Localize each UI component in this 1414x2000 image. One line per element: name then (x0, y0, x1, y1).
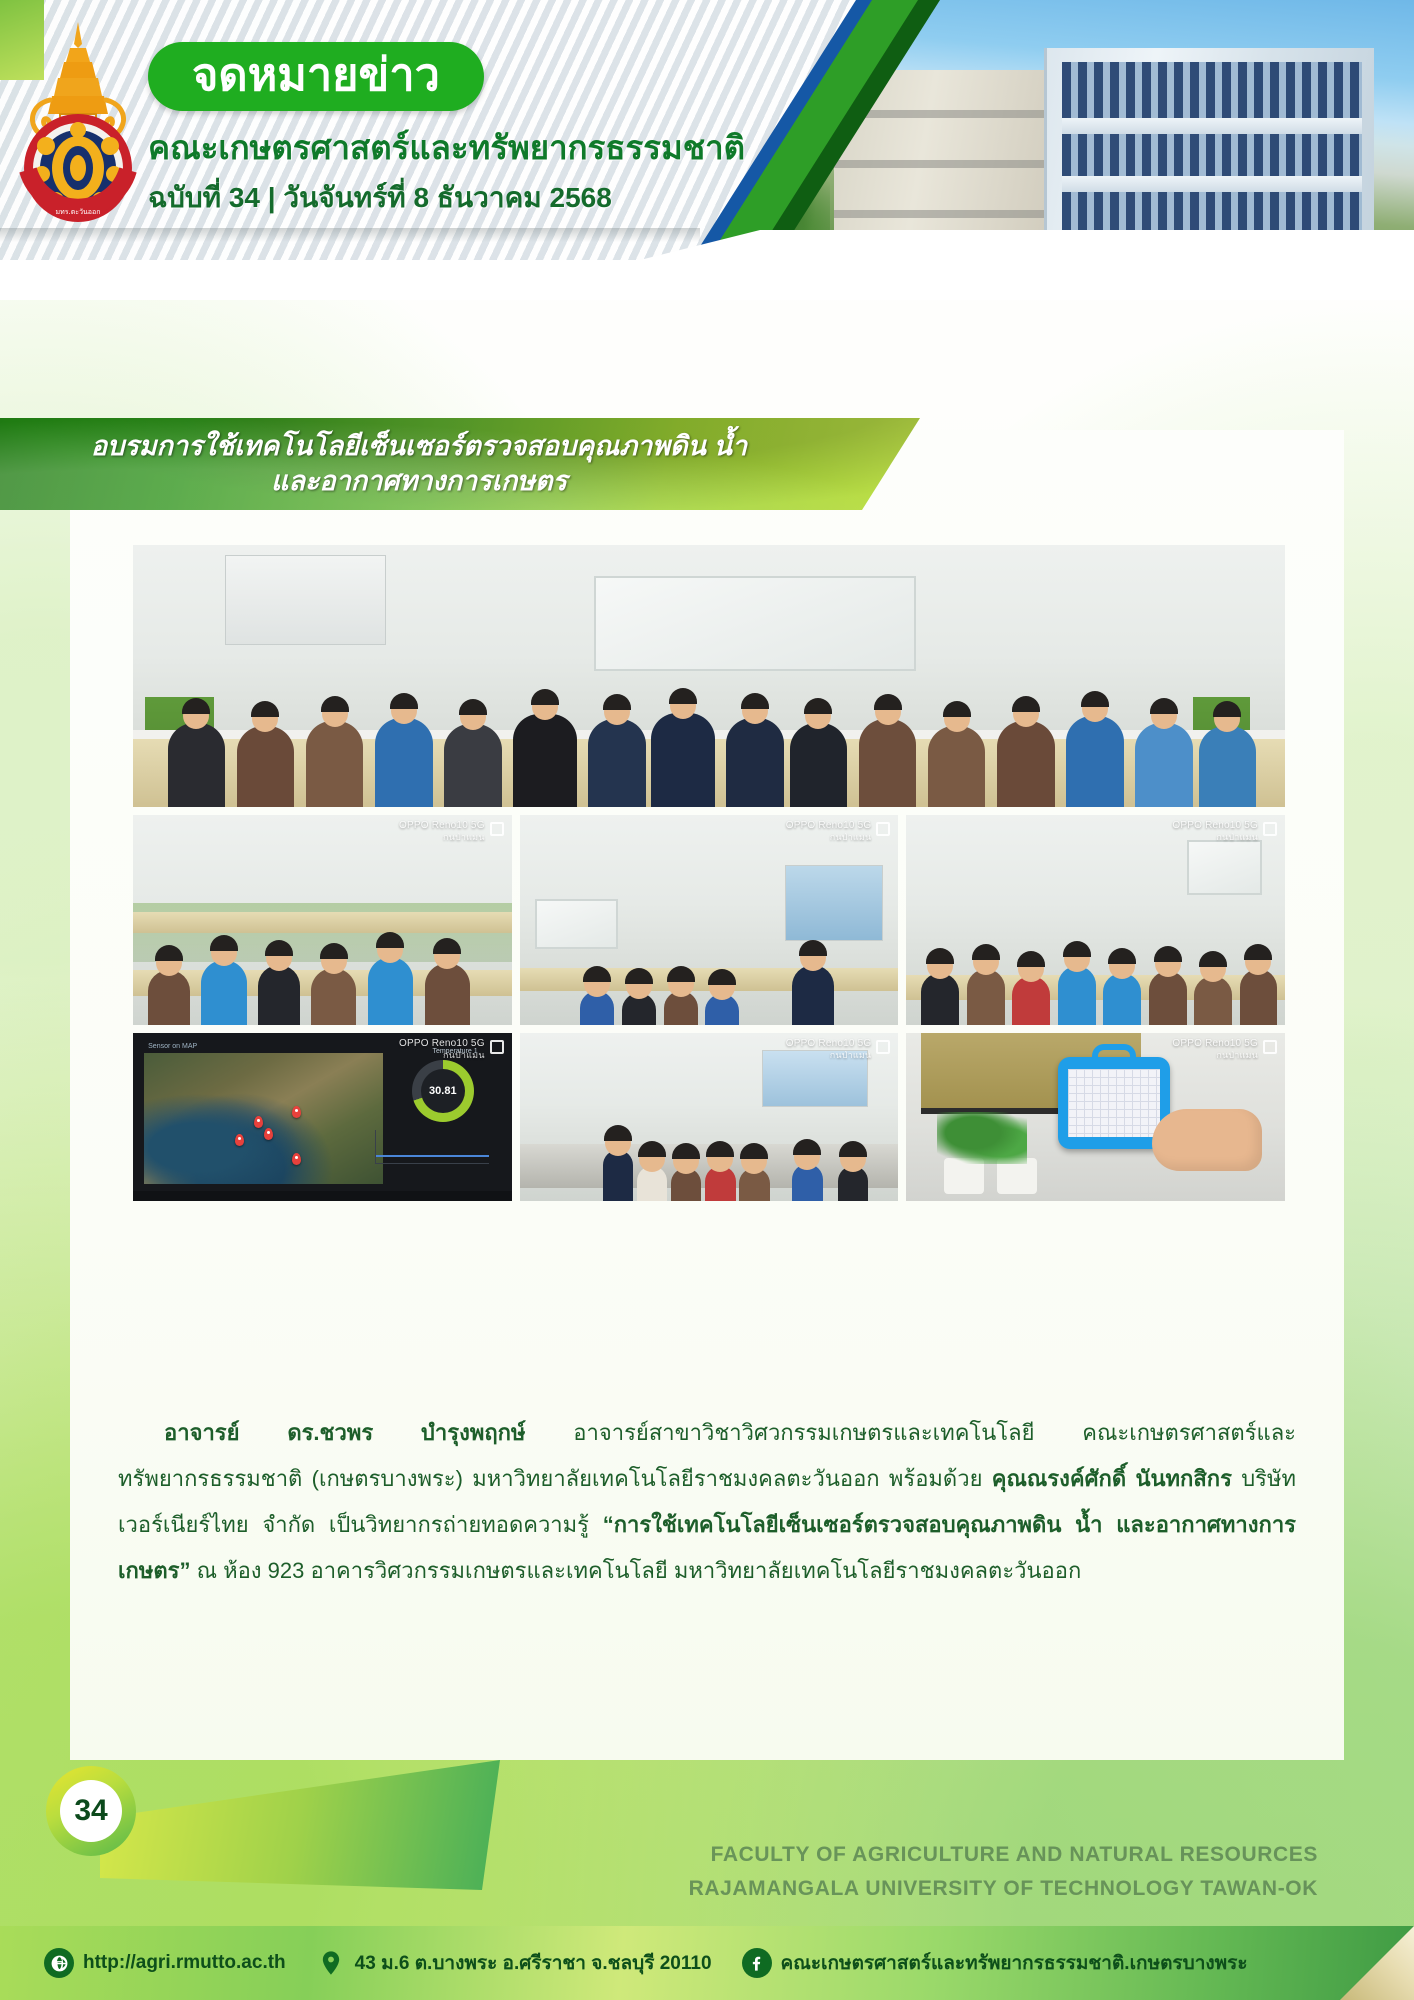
building-band-lower (1062, 176, 1362, 192)
newsletter-header: อาคาร 9 คณะเกษตรศาสตร์และทรัพยากรธรรมชาต… (0, 0, 1414, 300)
footer-english-name: FACULTY OF AGRICULTURE AND NATURAL RESOU… (689, 1838, 1318, 1905)
page-number: 34 (60, 1780, 122, 1842)
header-bottom-shadow (0, 228, 700, 242)
header-faculty-name: คณะเกษตรศาสตร์และทรัพยากรธรรมชาติ (148, 127, 745, 168)
camera-logo-icon (876, 822, 890, 836)
photo-watermark: OPPO Reno10 5G กนป่าแมน (1172, 1038, 1277, 1060)
windows-taskbar (133, 1191, 512, 1201)
photo-watermark: OPPO Reno10 5G กนป่าแมน (786, 1038, 891, 1060)
projector-screen (225, 555, 386, 644)
article-title-line2: และอากาศทางการเกษตร (271, 464, 567, 499)
footer-en-line2: RAJAMANGALA UNIVERSITY OF TECHNOLOGY TAW… (689, 1872, 1318, 1906)
watermark-brand: OPPO Reno10 5G (399, 820, 485, 832)
camera-logo-icon (490, 1040, 504, 1054)
satellite-map (144, 1053, 383, 1184)
contact-facebook-text: คณะเกษตรศาสตร์และทรัพยากรธรรมชาติ.เกษตรบ… (781, 1948, 1248, 1978)
newsletter-badge: จดหมายข่าว (148, 42, 484, 111)
photo-watermark: OPPO Reno10 5G กนป่าแมน (1172, 820, 1277, 842)
temperature-gauge: 30.81 (412, 1060, 474, 1122)
users-hand (1152, 1109, 1262, 1171)
location-pin-icon (316, 1948, 346, 1978)
watermark-sub: กนป่าแมน (399, 832, 485, 842)
photo-group-photo-lab (133, 545, 1285, 807)
article-title-banner: อบรมการใช้เทคโนโลยีเซ็นเซอร์ตรวจสอบคุณภา… (0, 418, 920, 510)
seated-students (520, 931, 899, 1026)
paragraph-run: ณ ห้อง 923 อาคารวิศวกรรมเกษตรและเทคโนโลย… (190, 1558, 1081, 1583)
photo-row-2: OPPO Reno10 5G กนป่าแมน OPPO Reno10 5G ก… (133, 815, 1285, 1025)
article-title-line1: อบรมการใช้เทคโนโลยีเซ็นเซอร์ตรวจสอบคุณภา… (91, 429, 747, 464)
photo-grid: OPPO Reno10 5G กนป่าแมน OPPO Reno10 5G ก… (133, 545, 1285, 1201)
photo-row-3: Sensor on MAP 30.81 Temperature 1 OPPO R… (133, 1033, 1285, 1201)
watermark-sub: กนป่าแมน (786, 832, 872, 842)
observers-group (520, 1114, 899, 1201)
shelf-unit (1187, 840, 1263, 895)
article-body: อาจารย์ ดร.ชวพร บำรุงพฤกษ์ อาจารย์สาขาวิ… (118, 1410, 1296, 1594)
watermark-brand: OPPO Reno10 5G (1172, 1038, 1258, 1050)
trend-chart (375, 1130, 489, 1164)
photo-sensor-map-dashboard: Sensor on MAP 30.81 Temperature 1 OPPO R… (133, 1033, 512, 1201)
contact-address: 43 ม.6 ต.บางพระ อ.ศรีราชา จ.ชลบุรี 20110 (316, 1948, 712, 1978)
article-title: อบรมการใช้เทคโนโลยีเซ็นเซอร์ตรวจสอบคุณภา… (0, 418, 862, 510)
footer-en-line1: FACULTY OF AGRICULTURE AND NATURAL RESOU… (689, 1838, 1318, 1872)
photo-workshop-students-tables: OPPO Reno10 5G กนป่าแมน (133, 815, 512, 1025)
article-paragraph: อาจารย์ ดร.ชวพร บำรุงพฤกษ์ อาจารย์สาขาวิ… (118, 1420, 1296, 1583)
photo-watermark: OPPO Reno10 5G กนป่าแมน (399, 1038, 504, 1060)
building-band-upper (1062, 118, 1362, 134)
photo-students-group-work: OPPO Reno10 5G กนป่าแมน (906, 815, 1285, 1025)
potted-plant-foliage (937, 1112, 1027, 1164)
camera-logo-icon (876, 1040, 890, 1054)
building-glass-facade (1062, 62, 1362, 232)
paragraph-bold-run: อาจารย์ ดร.ชวพร บำรุงพฤกษ์ (164, 1420, 525, 1445)
page-number-badge: 34 (46, 1766, 136, 1856)
photo-watermark: OPPO Reno10 5G กนป่าแมน (786, 820, 891, 842)
camera-logo-icon (1263, 822, 1277, 836)
contact-website-text: http://agri.rmutto.ac.th (83, 1952, 286, 1974)
photo-tablet-sensor-readout: OPPO Reno10 5G กนป่าแมน (906, 1033, 1285, 1201)
watermark-sub: กนป่าแมน (786, 1050, 872, 1060)
photo-watermark: OPPO Reno10 5G กนป่าแมน (399, 820, 504, 842)
watermark-brand: OPPO Reno10 5G (786, 1038, 872, 1050)
top-left-corner-accent (0, 0, 44, 80)
watermark-brand: OPPO Reno10 5G (786, 820, 872, 832)
watermark-brand: OPPO Reno10 5G (399, 1038, 485, 1050)
contact-bar: http://agri.rmutto.ac.th 43 ม.6 ต.บางพระ… (0, 1926, 1414, 2000)
globe-icon (44, 1948, 74, 1978)
contact-facebook[interactable]: คณะเกษตรศาสตร์และทรัพยากรธรรมชาติ.เกษตรบ… (742, 1948, 1248, 1978)
watermark-sub: กนป่าแมน (1172, 832, 1258, 842)
tablet-handle (1092, 1044, 1136, 1060)
attendees-group (133, 645, 1285, 807)
students-cluster (906, 907, 1285, 1025)
photo-demo-soil-samples: OPPO Reno10 5G กนป่าแมน (520, 1033, 899, 1201)
tablet-screen-graph (1068, 1069, 1160, 1137)
paragraph-bold-run: คุณณรงค์ศักดิ์ นันทกสิกร (992, 1466, 1232, 1491)
svg-text:มทร.ตะวันออก: มทร.ตะวันออก (56, 208, 101, 216)
header-text-group: จดหมายข่าว คณะเกษตรศาสตร์และทรัพยากรธรรม… (148, 42, 745, 220)
contact-address-text: 43 ม.6 ต.บางพระ อ.ศรีราชา จ.ชลบุรี 20110 (355, 1948, 712, 1978)
watermark-sub: กนป่าแมน (1172, 1050, 1258, 1060)
watermark-sub: กนป่าแมน (399, 1050, 485, 1060)
camera-logo-icon (490, 822, 504, 836)
header-issue-date: ฉบับที่ 34 | วันจันทร์ที่ 8 ธันวาคม 2568 (148, 176, 745, 220)
contact-website[interactable]: http://agri.rmutto.ac.th (44, 1948, 286, 1978)
photo-lecturer-classroom: OPPO Reno10 5G กนป่าแมน (520, 815, 899, 1025)
seated-students (133, 895, 512, 1025)
dashboard-panel-title: Sensor on MAP (148, 1043, 197, 1050)
watermark-brand: OPPO Reno10 5G (1172, 820, 1258, 832)
facebook-icon (742, 1948, 772, 1978)
camera-logo-icon (1263, 1040, 1277, 1054)
gauge-value: 30.81 (421, 1069, 465, 1113)
